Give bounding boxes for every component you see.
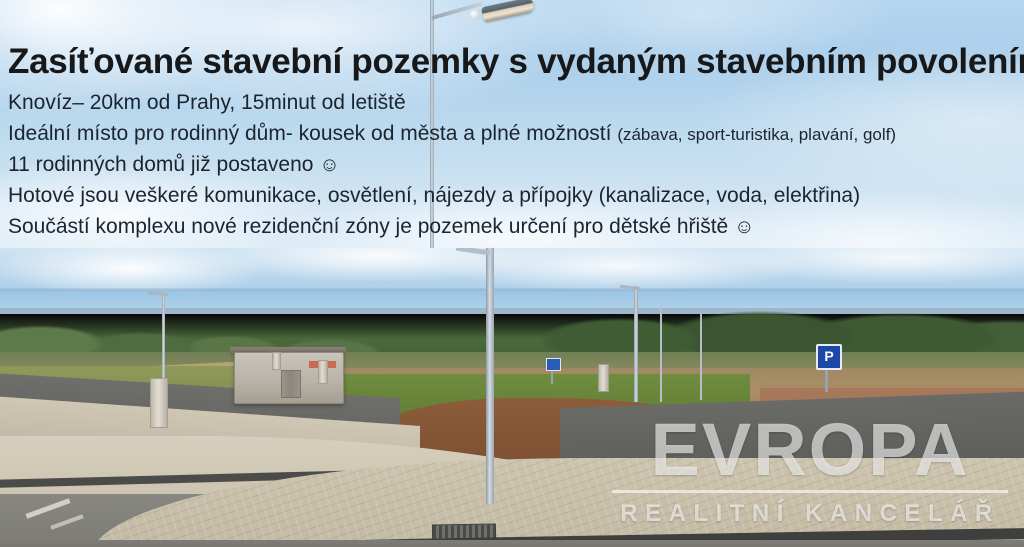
parking-sign-icon: P xyxy=(816,344,842,370)
list-item: 11 rodinných domů již postaveno ☺ xyxy=(8,150,1018,181)
storm-drain-grate-icon xyxy=(432,523,496,539)
bullet-text: Knovíz– 20km od Prahy, 15minut od letišt… xyxy=(8,91,406,114)
site-photograph: P xyxy=(0,248,1024,547)
bullet-list: Knovíz– 20km od Prahy, 15minut od letišt… xyxy=(8,88,1018,243)
smiley-icon: ☺ xyxy=(319,154,339,176)
utility-pole xyxy=(700,314,702,400)
utility-pillar xyxy=(272,352,281,370)
utility-pillar xyxy=(598,364,609,392)
bullet-text: 11 rodinných domů již postaveno xyxy=(8,153,319,176)
asphalt-bottom-strip xyxy=(0,540,1024,547)
list-item: Hotové jsou veškeré komunikace, osvětlen… xyxy=(8,181,1018,212)
traffic-sign-icon xyxy=(546,358,561,371)
streetlight-luminaire-icon xyxy=(481,0,535,22)
list-item: Knovíz– 20km od Prahy, 15minut od letišt… xyxy=(8,88,1018,119)
transformer-box-door xyxy=(281,370,301,398)
list-item: Ideální místo pro rodinný dům- kousek od… xyxy=(8,119,1018,150)
page-title: Zasíťované stavební pozemky s vydaným st… xyxy=(8,44,1024,79)
streetlight-pole xyxy=(486,248,494,504)
utility-pillar xyxy=(150,378,168,428)
streetlight-pole xyxy=(634,286,638,402)
bullet-text: Ideální místo pro rodinný dům- kousek od… xyxy=(8,122,617,145)
real-estate-poster: Zasíťované stavební pozemky s vydaným st… xyxy=(0,0,1024,547)
streetlight-joint-icon xyxy=(470,10,480,20)
bullet-text: Hotové jsou veškeré komunikace, osvětlen… xyxy=(8,184,860,207)
utility-pole xyxy=(660,306,662,402)
utility-pillar xyxy=(318,360,328,384)
bullet-subtext: (zábava, sport-turistika, plavání, golf) xyxy=(617,125,896,144)
bullet-text: Součástí komplexu nové rezidenční zóny j… xyxy=(8,215,734,238)
list-item: Součástí komplexu nové rezidenční zóny j… xyxy=(8,212,1018,243)
smiley-icon: ☺ xyxy=(734,216,754,238)
